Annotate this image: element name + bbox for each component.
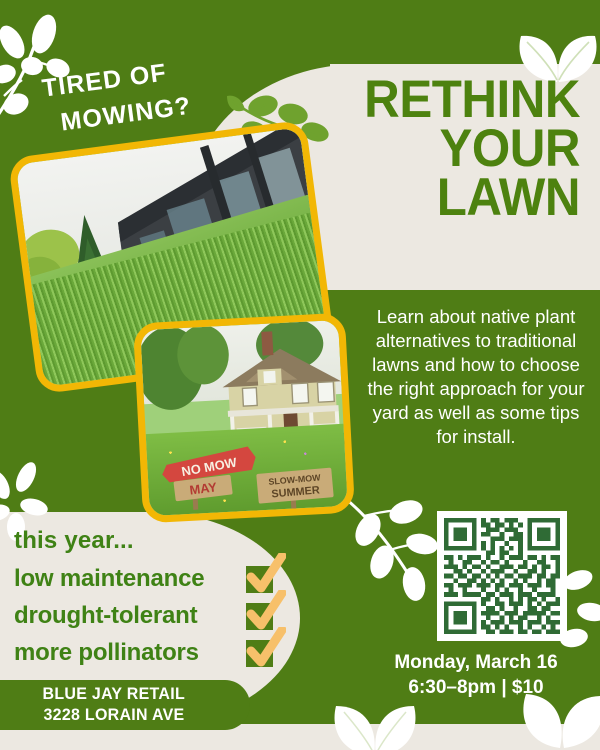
title-line-3: LAWN (348, 174, 581, 223)
checklist-item-label: low maintenance (14, 565, 204, 593)
event-details: Monday, March 16 6:30–8pm | $10 (360, 650, 592, 701)
flyer-canvas: TIRED OF MOWING? (0, 0, 600, 750)
page-title: RETHINK YOUR LAWN (330, 76, 580, 222)
photo-no-mow-may: NO MOW MAY SLOW-MOW SUMMER (133, 313, 355, 524)
benefits-checklist: this year... low maintenance drought-tol… (14, 527, 314, 674)
check-icon (246, 553, 286, 595)
qr-code[interactable] (437, 511, 567, 641)
title-line-2: YOUR (348, 125, 581, 174)
leaf-branch-right-mid-icon (334, 488, 454, 608)
venue-name: BLUE JAY RETAIL (43, 684, 185, 705)
event-time-price: 6:30–8pm | $10 (360, 675, 592, 700)
check-icon (246, 590, 286, 632)
title-line-1: RETHINK (348, 76, 581, 125)
body-copy: Learn about native plant alternatives to… (362, 305, 590, 449)
event-date: Monday, March 16 (360, 650, 592, 675)
checklist-item: more pollinators (14, 637, 314, 671)
checklist-item-label: more pollinators (14, 639, 199, 667)
venue-address: 3228 LORAIN AVE (44, 705, 185, 726)
checklist-item-label: drought-tolerant (14, 602, 197, 630)
checklist-intro: this year... (14, 527, 314, 555)
venue-banner: BLUE JAY RETAIL 3228 LORAIN AVE (0, 680, 250, 730)
check-icon (246, 627, 286, 669)
qr-code-canvas (444, 518, 560, 634)
